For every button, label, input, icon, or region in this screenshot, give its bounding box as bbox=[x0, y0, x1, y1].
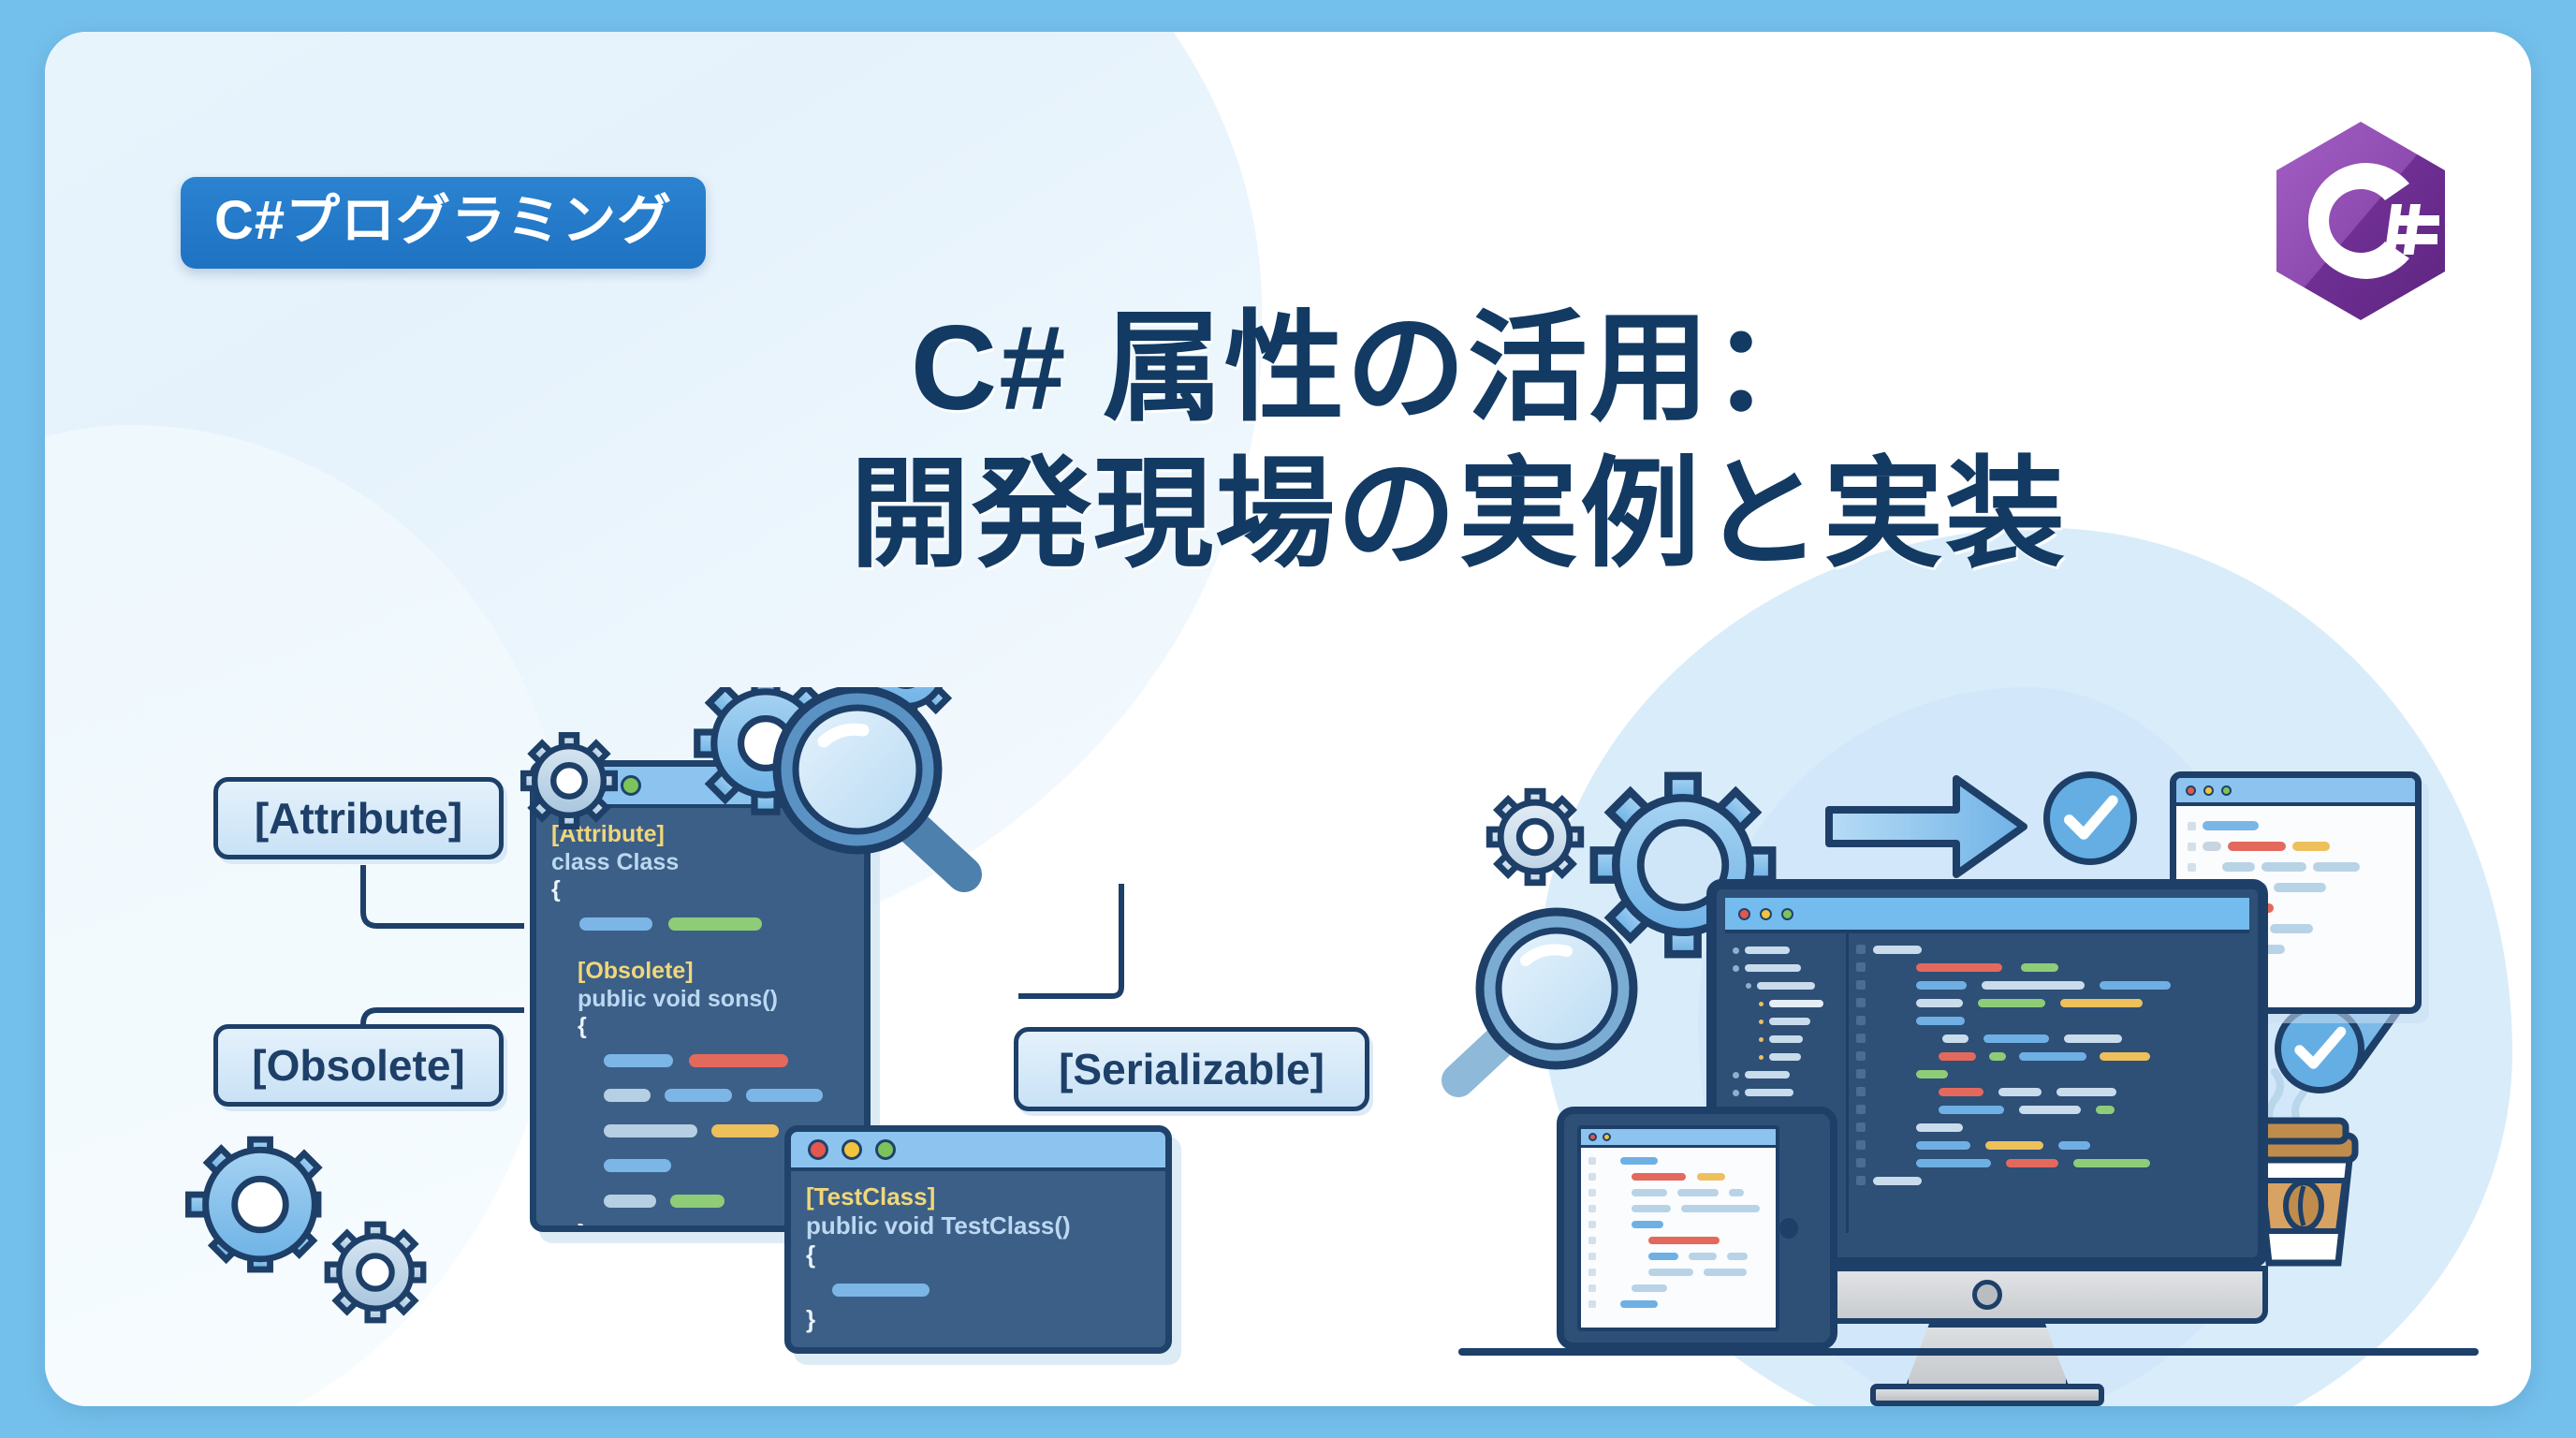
code-bar bbox=[711, 1124, 779, 1137]
check-circle-icon-bottom bbox=[2275, 1004, 2364, 1093]
monitor-titlebar bbox=[1725, 898, 2249, 933]
code-bar bbox=[604, 1159, 671, 1172]
code-bars-group-test bbox=[806, 1274, 1152, 1303]
code-bar bbox=[746, 1089, 823, 1102]
code-line-testclass-attr: [TestClass] bbox=[806, 1182, 1152, 1211]
tablet-code bbox=[1581, 1148, 1776, 1317]
code-bar bbox=[670, 1195, 724, 1208]
tablet-screen bbox=[1577, 1125, 1779, 1331]
code-line-open-brace-2: { bbox=[551, 1013, 851, 1041]
code-line-obsolete: [Obsolete] bbox=[551, 958, 851, 986]
code-line-testclass-close: } bbox=[806, 1305, 1152, 1334]
code-row bbox=[2188, 862, 2404, 872]
test-window-code: [TestClass] public void TestClass() { } bbox=[791, 1171, 1165, 1334]
csharp-hexagon-logo bbox=[2267, 118, 2454, 324]
test-code-window[interactable]: [TestClass] public void TestClass() { } bbox=[784, 1125, 1172, 1354]
poster-card: C#プログラミング C# 属性の活用： 開発現場の実例と実装 bbox=[45, 32, 2531, 1406]
category-badge: C#プログラミング bbox=[181, 177, 706, 269]
code-line-testclass-open: { bbox=[806, 1240, 1152, 1269]
code-line-class: class Class bbox=[551, 849, 851, 877]
code-bar bbox=[689, 1054, 788, 1067]
code-bar bbox=[832, 1284, 929, 1297]
chip-attribute[interactable]: [Attribute] bbox=[213, 777, 504, 859]
check-circle-icon-top bbox=[2043, 771, 2137, 865]
category-badge-label: C#プログラミング bbox=[214, 190, 672, 251]
tablet-titlebar bbox=[1581, 1129, 1776, 1148]
chip-serializable[interactable]: [Serializable] bbox=[1014, 1027, 1369, 1111]
chip-obsolete-label: [Obsolete] bbox=[252, 1040, 464, 1091]
code-row bbox=[2188, 842, 2404, 851]
code-line-method: public void sons() bbox=[551, 986, 851, 1014]
traffic-light-red-icon[interactable] bbox=[1588, 1133, 1597, 1141]
code-bar bbox=[604, 1054, 673, 1067]
tablet-home-button[interactable] bbox=[1779, 1218, 1798, 1239]
page-title-line-1: C# 属性の活用： bbox=[45, 296, 2226, 442]
poster-root: C#プログラミング C# 属性の活用： 開発現場の実例と実装 bbox=[0, 0, 2576, 1438]
traffic-light-yellow-icon[interactable] bbox=[587, 775, 607, 796]
traffic-light-red-icon[interactable] bbox=[553, 775, 574, 796]
chip-serializable-label: [Serializable] bbox=[1059, 1044, 1325, 1094]
check-icon bbox=[2050, 778, 2130, 858]
tablet-device[interactable] bbox=[1557, 1107, 1837, 1350]
browser-window-titlebar bbox=[2176, 778, 2415, 806]
traffic-light-red-icon[interactable] bbox=[2186, 785, 2196, 796]
test-window-titlebar bbox=[791, 1132, 1165, 1171]
traffic-light-red-icon[interactable] bbox=[1738, 908, 1750, 920]
monitor-stand-base bbox=[1870, 1384, 2104, 1406]
monitor-stand-neck bbox=[1903, 1322, 2071, 1393]
code-line-testclass-sig: public void TestClass() bbox=[806, 1211, 1152, 1240]
chip-attribute-label: [Attribute] bbox=[255, 793, 462, 844]
traffic-light-green-icon[interactable] bbox=[621, 775, 641, 796]
traffic-light-red-icon[interactable] bbox=[808, 1139, 828, 1160]
code-bar bbox=[668, 917, 762, 931]
chip-obsolete[interactable]: [Obsolete] bbox=[213, 1024, 504, 1107]
code-bar bbox=[665, 1089, 732, 1102]
code-bar bbox=[604, 1195, 656, 1208]
desk-surface-line bbox=[1458, 1348, 2479, 1356]
page-title: C# 属性の活用： 開発現場の実例と実装 bbox=[45, 296, 2226, 588]
code-line-attribute: [Attribute] bbox=[551, 821, 851, 849]
traffic-light-green-icon[interactable] bbox=[1781, 908, 1793, 920]
check-icon bbox=[2281, 1010, 2358, 1087]
traffic-light-yellow-icon[interactable] bbox=[1760, 908, 1772, 920]
code-bar bbox=[604, 1089, 651, 1102]
code-row bbox=[2188, 821, 2404, 830]
page-title-line-2: 開発現場の実例と実装 bbox=[45, 442, 2226, 588]
monitor-power-button[interactable] bbox=[1972, 1280, 2002, 1310]
traffic-light-yellow-icon[interactable] bbox=[1603, 1133, 1611, 1141]
traffic-light-yellow-icon[interactable] bbox=[842, 1139, 862, 1160]
code-line-open-brace-1: { bbox=[551, 876, 851, 904]
code-bar bbox=[604, 1124, 697, 1137]
traffic-light-green-icon[interactable] bbox=[2221, 785, 2232, 796]
traffic-light-green-icon[interactable] bbox=[875, 1139, 896, 1160]
code-bar bbox=[579, 917, 652, 931]
monitor-editor[interactable] bbox=[1849, 933, 2249, 1233]
code-bars-group-1 bbox=[551, 910, 851, 938]
main-window-titlebar bbox=[536, 767, 864, 808]
traffic-light-yellow-icon[interactable] bbox=[2203, 785, 2214, 796]
